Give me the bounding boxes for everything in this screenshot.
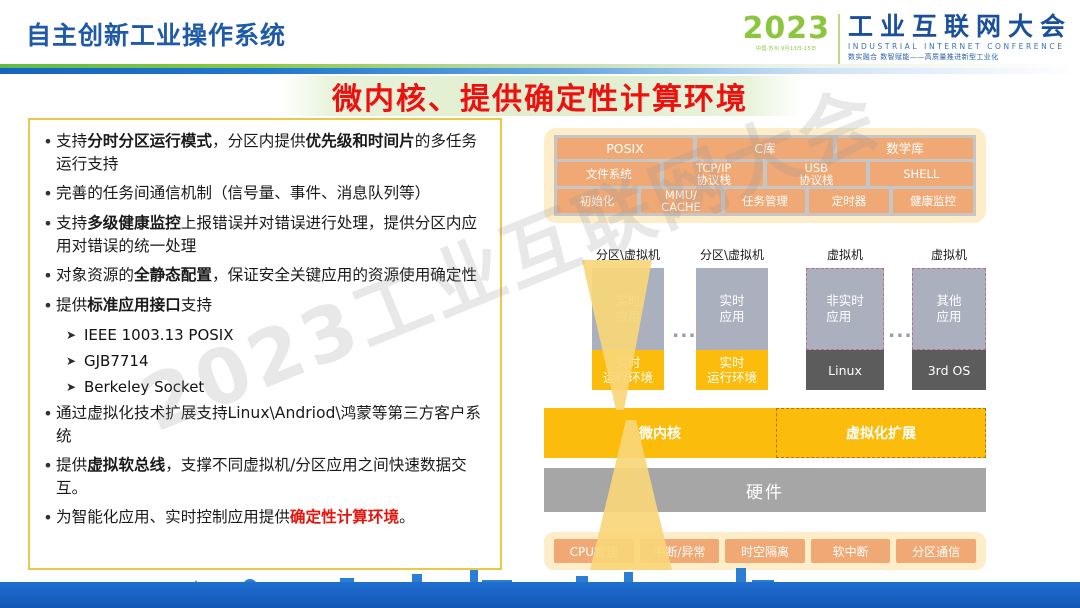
bullet-segment: 标准应用接口 <box>87 296 181 314</box>
bullet-item: •完善的任务间通信机制（信号量、事件、消息队列等） <box>40 182 488 205</box>
sub-bullet-arrow-icon: ➤ <box>66 324 84 347</box>
vm-column: 实时 应用实时 运行环境 <box>696 268 768 390</box>
bullet-segment: 支持 <box>56 132 87 150</box>
kernel-service-box: 分区通信 <box>896 539 976 563</box>
hardware-layer-box: 硬件 <box>544 468 986 512</box>
sub-bullet-item: ➤GJB7714 <box>66 350 488 373</box>
vm-ellipsis-right: ... <box>888 320 913 342</box>
main-title-banner: 微内核、提供确定性计算环境 <box>280 76 800 116</box>
bullet-item: •通过虚拟化技术扩展支持Linux\Andriod\鸿蒙等第三方客户系统 <box>40 402 488 447</box>
api-module-box: SHELL <box>870 162 973 186</box>
bullet-segment: 支持 <box>56 214 87 232</box>
bullet-segment: 确定性计算环境 <box>290 508 399 526</box>
vm-column: 实时 应用实时 运行环境 <box>592 268 664 390</box>
bullet-segment: 提供 <box>56 456 87 474</box>
bullet-item: •提供虚拟软总线，支撑不同虚拟机/分区应用之间快速数据交互。 <box>40 454 488 499</box>
bullet-text: 支持分时分区运行模式，分区内提供优先级和时间片的多任务运行支持 <box>56 130 488 175</box>
bullet-dot-icon: • <box>40 182 56 205</box>
vm-runtime-box: 实时 运行环境 <box>696 350 768 390</box>
api-module-box: 定时器 <box>809 189 889 213</box>
vm-label-row: 分区\虚拟机分区\虚拟机虚拟机虚拟机 <box>544 246 986 264</box>
kernel-service-box: CPU管理 <box>554 539 634 563</box>
api-row: POSIXC库数学库 <box>557 138 973 159</box>
bullet-segment: 支持 <box>181 296 212 314</box>
logo-slogan: 数实融合 数智赋能——高质量推进新型工业化 <box>848 52 1072 62</box>
architecture-diagram: POSIXC库数学库文件系统TCP/IP 协议栈USB 协议栈SHELL初始化M… <box>534 120 996 572</box>
api-layer-grid: POSIXC库数学库文件系统TCP/IP 协议栈USB 协议栈SHELL初始化M… <box>554 135 976 216</box>
vm-application-box: 其他 应用 <box>912 268 986 350</box>
bullet-list: •支持分时分区运行模式，分区内提供优先级和时间片的多任务运行支持•完善的任务间通… <box>40 130 488 529</box>
kernel-service-box: 软中断 <box>811 539 891 563</box>
bullet-segment: 虚拟软总线 <box>87 456 165 474</box>
virtualization-extension-box: 虚拟化扩展 <box>776 408 986 458</box>
api-module-box: 初始化 <box>557 189 637 213</box>
logo-divider <box>838 14 840 66</box>
bullet-item: •提供标准应用接口支持 <box>40 294 488 317</box>
slide-root: 自主创新工业操作系统 2023 中国·苏州 9月13日-15日 工业互联网大会 … <box>0 0 1080 608</box>
feature-list-panel: •支持分时分区运行模式，分区内提供优先级和时间片的多任务运行支持•完善的任务间通… <box>28 118 502 570</box>
sub-bullet-text: IEEE 1003.13 POSIX <box>84 324 488 347</box>
bullet-dot-icon: • <box>40 454 56 477</box>
logo-title-cn: 工业互联网大会 <box>848 12 1072 41</box>
api-module-box: C库 <box>697 138 833 159</box>
bullet-item: •支持多级健康监控上报错误并对错误进行处理，提供分区内应用对错误的统一处理 <box>40 212 488 257</box>
vm-label: 虚拟机 <box>806 246 884 263</box>
bullet-segment: 提供 <box>56 296 87 314</box>
bullet-dot-icon: • <box>40 402 56 425</box>
bullet-segment: 优先级和时间片 <box>306 132 415 150</box>
api-module-box: 数学库 <box>837 138 973 159</box>
vm-runtime-box: Linux <box>806 350 884 390</box>
api-module-box: 文件系统 <box>557 162 660 186</box>
bullet-text: 支持多级健康监控上报错误并对错误进行处理，提供分区内应用对错误的统一处理 <box>56 212 488 257</box>
bullet-dot-icon: • <box>40 212 56 235</box>
bullet-text: 通过虚拟化技术扩展支持Linux\Andriod\鸿蒙等第三方客户系统 <box>56 402 488 447</box>
vm-label: 分区\虚拟机 <box>592 246 664 263</box>
kernel-service-box: 中断/异常 <box>640 539 720 563</box>
sub-bullet-text: Berkeley Socket <box>84 376 488 399</box>
footer-band <box>0 582 1080 608</box>
api-module-box: MMU/ CACHE <box>641 189 721 213</box>
bullet-segment: 完善的任务间通信机制（信号量、事件、消息队列等） <box>56 184 430 202</box>
sub-bullet-arrow-icon: ➤ <box>66 376 84 399</box>
vm-runtime-box: 3rd OS <box>912 350 986 390</box>
vm-application-box: 实时 应用 <box>592 268 664 350</box>
kernel-layer-row: 微内核 虚拟化扩展 <box>544 408 986 458</box>
main-title: 微内核、提供确定性计算环境 <box>332 74 748 118</box>
bullet-text: 提供虚拟软总线，支撑不同虚拟机/分区应用之间快速数据交互。 <box>56 454 488 499</box>
api-row: 文件系统TCP/IP 协议栈USB 协议栈SHELL <box>557 162 973 186</box>
microkernel-box: 微内核 <box>544 408 776 458</box>
logo-year-block: 2023 中国·苏州 9月13日-15日 <box>742 12 838 53</box>
vm-label: 虚拟机 <box>912 246 986 263</box>
api-module-box: TCP/IP 协议栈 <box>664 162 763 186</box>
bullet-segment: 分时分区运行模式 <box>87 132 212 150</box>
bullet-text: 对象资源的全静态配置，保证安全关键应用的资源使用确定性 <box>56 264 488 287</box>
bullet-item: •支持分时分区运行模式，分区内提供优先级和时间片的多任务运行支持 <box>40 130 488 175</box>
conference-logo: 2023 中国·苏州 9月13日-15日 工业互联网大会 INDUSTRIAL … <box>742 12 1072 70</box>
api-module-box: 健康监控 <box>893 189 973 213</box>
logo-year-subtitle: 中国·苏州 9月13日-15日 <box>742 46 830 53</box>
bullet-segment: 通过虚拟化技术扩展支持Linux\Andriod\鸿蒙等第三方客户系统 <box>56 404 481 445</box>
logo-year: 2023 <box>742 12 830 46</box>
bullet-dot-icon: • <box>40 130 56 153</box>
vm-runtime-box: 实时 运行环境 <box>592 350 664 390</box>
vm-row: 实时 应用实时 运行环境实时 应用实时 运行环境非实时 应用Linux其他 应用… <box>544 268 986 390</box>
bullet-text: 为智能化应用、实时控制应用提供确定性计算环境。 <box>56 506 488 529</box>
vm-application-box: 实时 应用 <box>696 268 768 350</box>
api-module-box: POSIX <box>557 138 693 159</box>
bullet-segment: 。 <box>399 508 415 526</box>
bullet-text: 提供标准应用接口支持 <box>56 294 488 317</box>
vm-column: 非实时 应用Linux <box>806 268 884 390</box>
bullet-segment: 多级健康监控 <box>87 214 181 232</box>
bullet-item: •为智能化应用、实时控制应用提供确定性计算环境。 <box>40 506 488 529</box>
vm-column: 其他 应用3rd OS <box>912 268 986 390</box>
api-row: 初始化MMU/ CACHE任务管理定时器健康监控 <box>557 189 973 213</box>
sub-bullet-arrow-icon: ➤ <box>66 350 84 373</box>
api-module-box: 任务管理 <box>725 189 805 213</box>
bullet-item: •对象资源的全静态配置，保证安全关键应用的资源使用确定性 <box>40 264 488 287</box>
logo-title-en: INDUSTRIAL INTERNET CONFERENCE <box>848 41 1072 52</box>
vm-ellipsis-left: ... <box>672 320 697 342</box>
bullet-segment: ，分区内提供 <box>212 132 306 150</box>
api-layer-panel: POSIXC库数学库文件系统TCP/IP 协议栈USB 协议栈SHELL初始化M… <box>544 128 986 223</box>
bullet-text: 完善的任务间通信机制（信号量、事件、消息队列等） <box>56 182 488 205</box>
api-module-box: USB 协议栈 <box>767 162 866 186</box>
vm-application-box: 非实时 应用 <box>806 268 884 350</box>
bullet-segment: 全静态配置 <box>134 266 212 284</box>
bullet-dot-icon: • <box>40 264 56 287</box>
vm-label: 分区\虚拟机 <box>696 246 768 263</box>
logo-text-block: 工业互联网大会 INDUSTRIAL INTERNET CONFERENCE 数… <box>848 12 1072 62</box>
sub-bullet-item: ➤IEEE 1003.13 POSIX <box>66 324 488 347</box>
sub-bullet-text: GJB7714 <box>84 350 488 373</box>
bullet-segment: ，保证安全关键应用的资源使用确定性 <box>212 266 477 284</box>
sub-bullet-item: ➤Berkeley Socket <box>66 376 488 399</box>
page-title: 自主创新工业操作系统 <box>26 16 286 52</box>
bullet-dot-icon: • <box>40 506 56 529</box>
bullet-segment: 为智能化应用、实时控制应用提供 <box>56 508 290 526</box>
kernel-service-box: 时空隔离 <box>725 539 805 563</box>
slide-header: 自主创新工业操作系统 2023 中国·苏州 9月13日-15日 工业互联网大会 … <box>0 0 1080 72</box>
bullet-dot-icon: • <box>40 294 56 317</box>
bullet-segment: 对象资源的 <box>56 266 134 284</box>
footer-decoration <box>0 562 1080 608</box>
